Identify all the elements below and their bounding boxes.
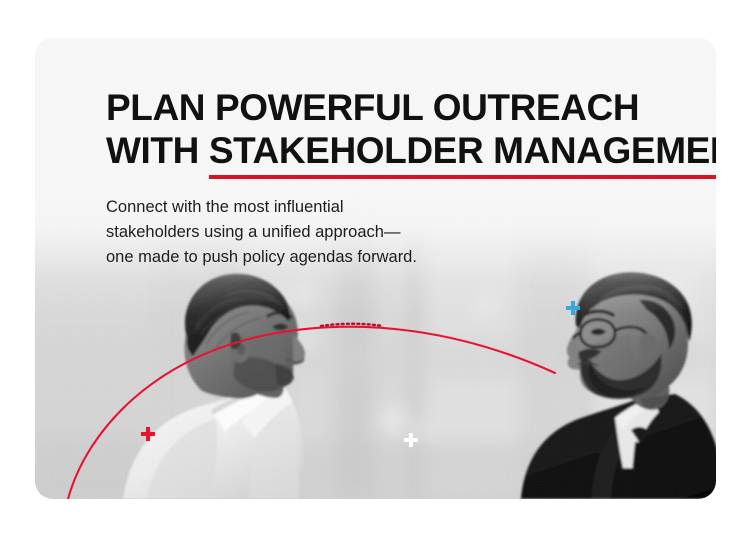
subheadline-line-2: stakeholders using a unified approach— [106, 220, 716, 245]
blue-plus-icon [566, 301, 580, 315]
text-block: PLAN POWERFUL OUTREACH WITH STAKEHOLDER … [106, 86, 716, 270]
subheadline: Connect with the most influential stakeh… [106, 172, 716, 270]
subheadline-line-3: one made to push policy agendas forward. [106, 245, 716, 270]
promo-card: PLAN POWERFUL OUTREACH WITH STAKEHOLDER … [35, 38, 716, 499]
red-plus-icon [141, 427, 155, 441]
poster-canvas: PLAN POWERFUL OUTREACH WITH STAKEHOLDER … [0, 0, 750, 540]
headline-line-1: PLAN POWERFUL OUTREACH [106, 87, 639, 128]
headline-line-2-prefix: WITH [106, 130, 209, 171]
headline: PLAN POWERFUL OUTREACH WITH STAKEHOLDER … [106, 86, 716, 172]
subheadline-line-1: Connect with the most influential [106, 195, 716, 220]
headline-line-2: WITH STAKEHOLDER MANAGEMENT [106, 129, 716, 172]
headline-underlined-phrase: STAKEHOLDER MANAGEMENT [209, 129, 716, 172]
white-plus-icon [404, 433, 418, 447]
